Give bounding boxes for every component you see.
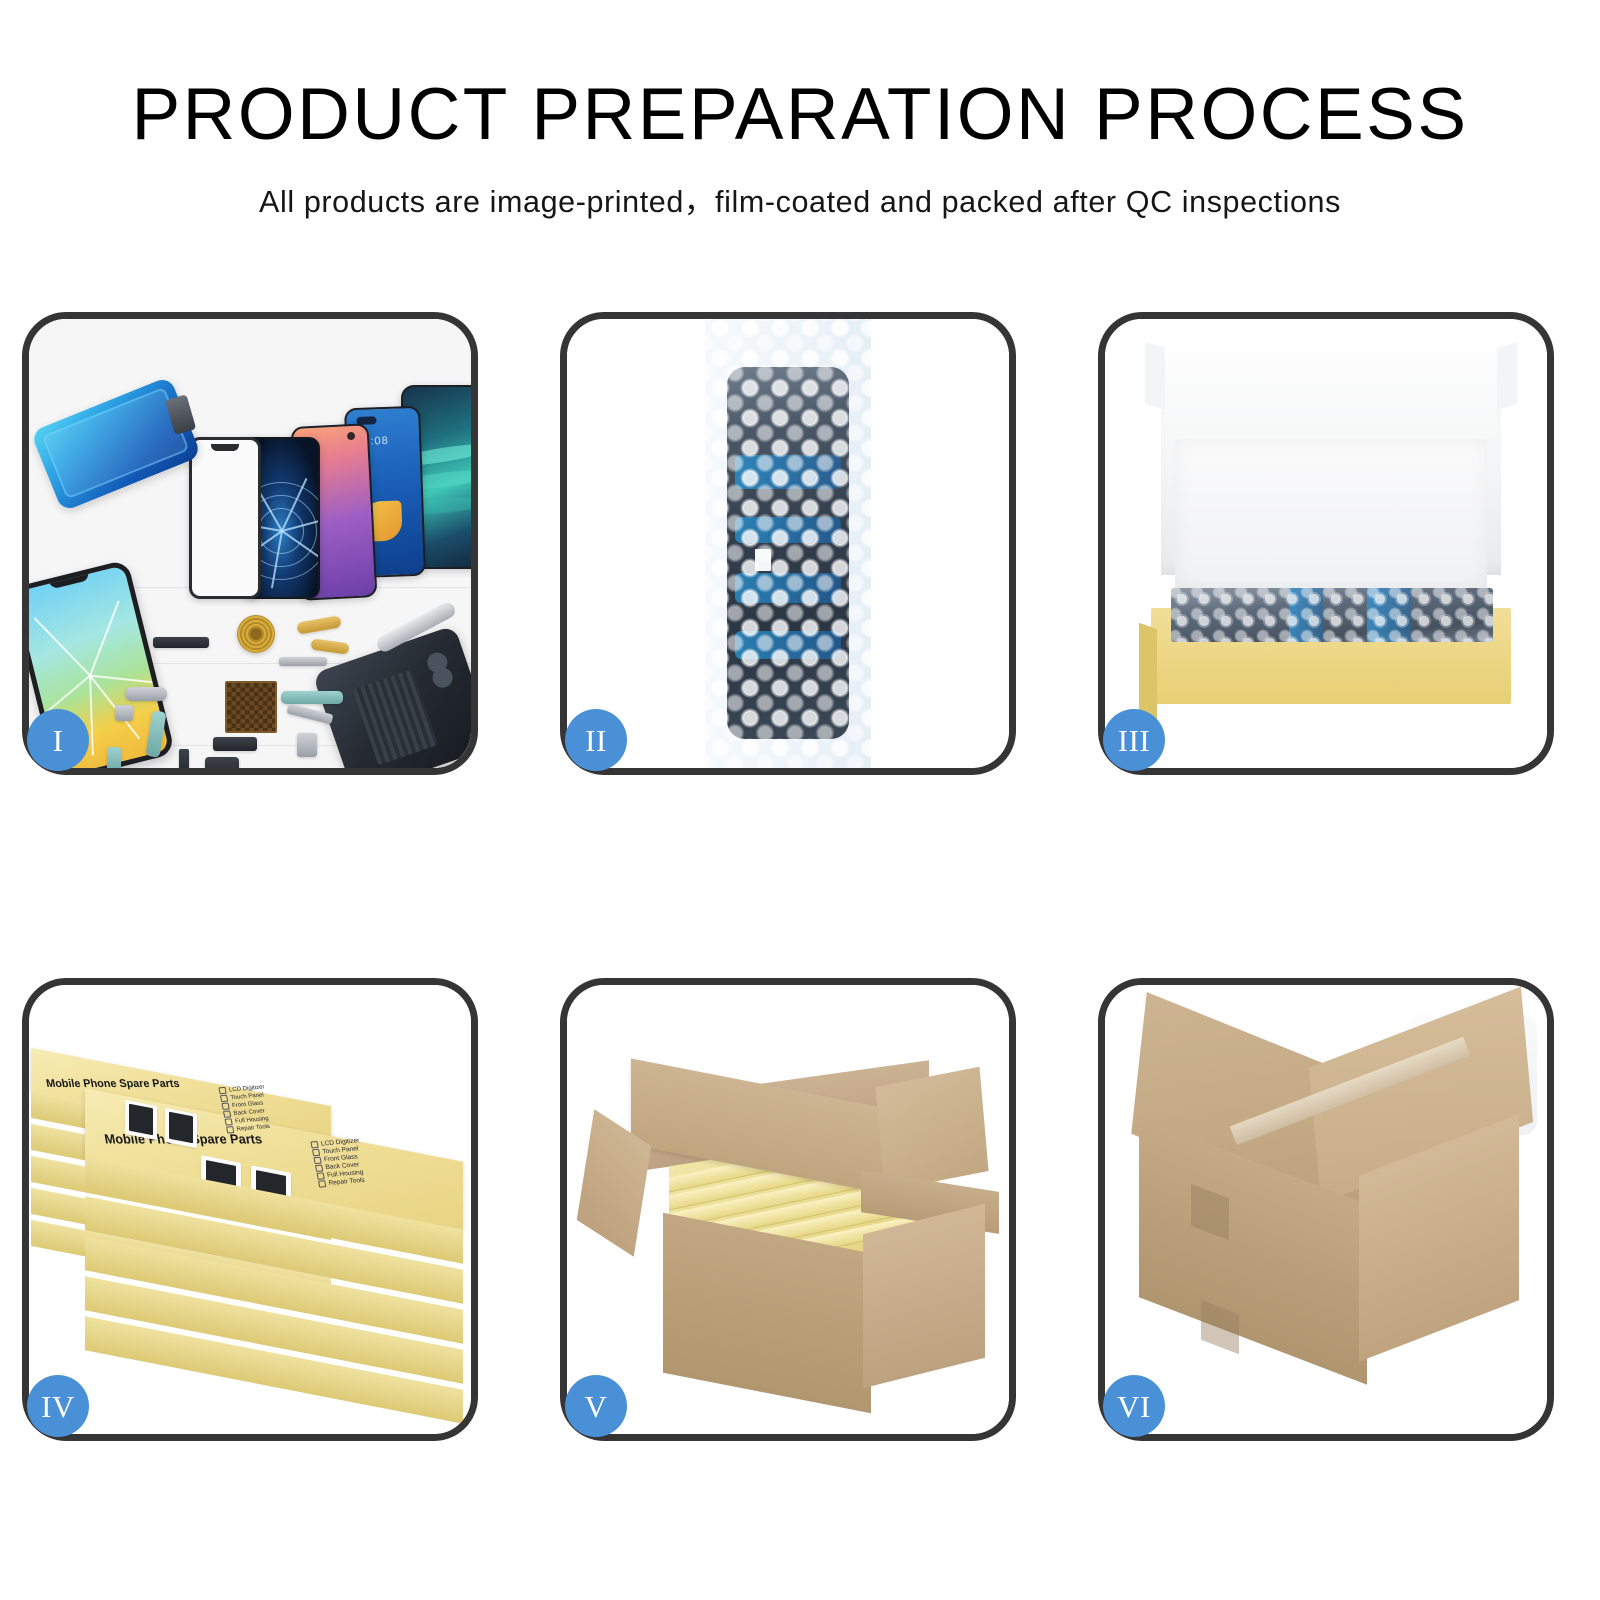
step-3-image xyxy=(1105,319,1547,768)
earpiece-speaker-part xyxy=(153,637,209,648)
step-badge-6: VI xyxy=(1103,1375,1165,1437)
step-4-image: Mobile Phone Spare Parts Mobile Phone Sp… xyxy=(29,985,471,1434)
flex-cable-part-2 xyxy=(281,691,343,704)
vibrator-motor-part xyxy=(213,737,257,751)
step-panel-2[interactable]: II xyxy=(560,312,1016,775)
camera-module-part xyxy=(125,687,167,701)
step-panel-6[interactable]: VI xyxy=(1098,978,1554,1441)
step-panel-5[interactable]: V xyxy=(560,978,1016,1441)
wireless-charging-coil xyxy=(237,615,275,653)
foam-liner xyxy=(1175,439,1487,591)
sim-tray-part xyxy=(107,747,121,768)
ic-chip-component xyxy=(225,681,277,733)
process-steps-grid: 08:08 xyxy=(0,0,1600,1600)
battery-component xyxy=(353,669,438,765)
step-panel-1[interactable]: 08:08 xyxy=(22,312,478,775)
checklist-item: Repair Tools xyxy=(236,1123,270,1132)
loudspeaker-part xyxy=(205,757,239,768)
bubble-outline-texture xyxy=(705,319,871,768)
step-1-image: 08:08 xyxy=(29,319,471,768)
retail-box-thumbnail-4 xyxy=(165,1108,197,1148)
step-6-image xyxy=(1105,985,1547,1434)
connector-part-2 xyxy=(297,733,317,757)
connector-part-1 xyxy=(115,705,133,721)
boxed-bubble-wrapped-item xyxy=(1171,588,1493,642)
retail-box-checklist-rear: LCD Digitizer Touch Panel Front Glass Ba… xyxy=(218,1083,273,1134)
step-panel-4[interactable]: Mobile Phone Spare Parts Mobile Phone Sp… xyxy=(22,978,478,1441)
step-2-image xyxy=(567,319,1009,768)
step-badge-2: II xyxy=(565,709,627,771)
carton-flap-right xyxy=(875,1067,988,1191)
step-badge-3: III xyxy=(1103,709,1165,771)
bubble-wrap-sleeve xyxy=(705,319,871,768)
antenna-part xyxy=(179,749,189,768)
step-badge-4: IV xyxy=(27,1375,89,1437)
retail-box-brand-rear: Mobile Phone Spare Parts xyxy=(45,1078,180,1090)
flex-cable-part-1 xyxy=(279,657,327,666)
step-badge-5: V xyxy=(565,1375,627,1437)
step-panel-3[interactable]: III xyxy=(1098,312,1554,775)
step-5-image xyxy=(567,985,1009,1434)
step-badge-1: I xyxy=(27,709,89,771)
retail-box-thumbnail-3 xyxy=(125,1100,157,1140)
camera-lens xyxy=(425,650,450,675)
retail-box-checklist-front: LCD Digitizer Touch Panel Front Glass Ba… xyxy=(310,1137,368,1188)
tempered-glass-panel xyxy=(189,437,261,599)
carton-side-wall xyxy=(863,1204,985,1388)
